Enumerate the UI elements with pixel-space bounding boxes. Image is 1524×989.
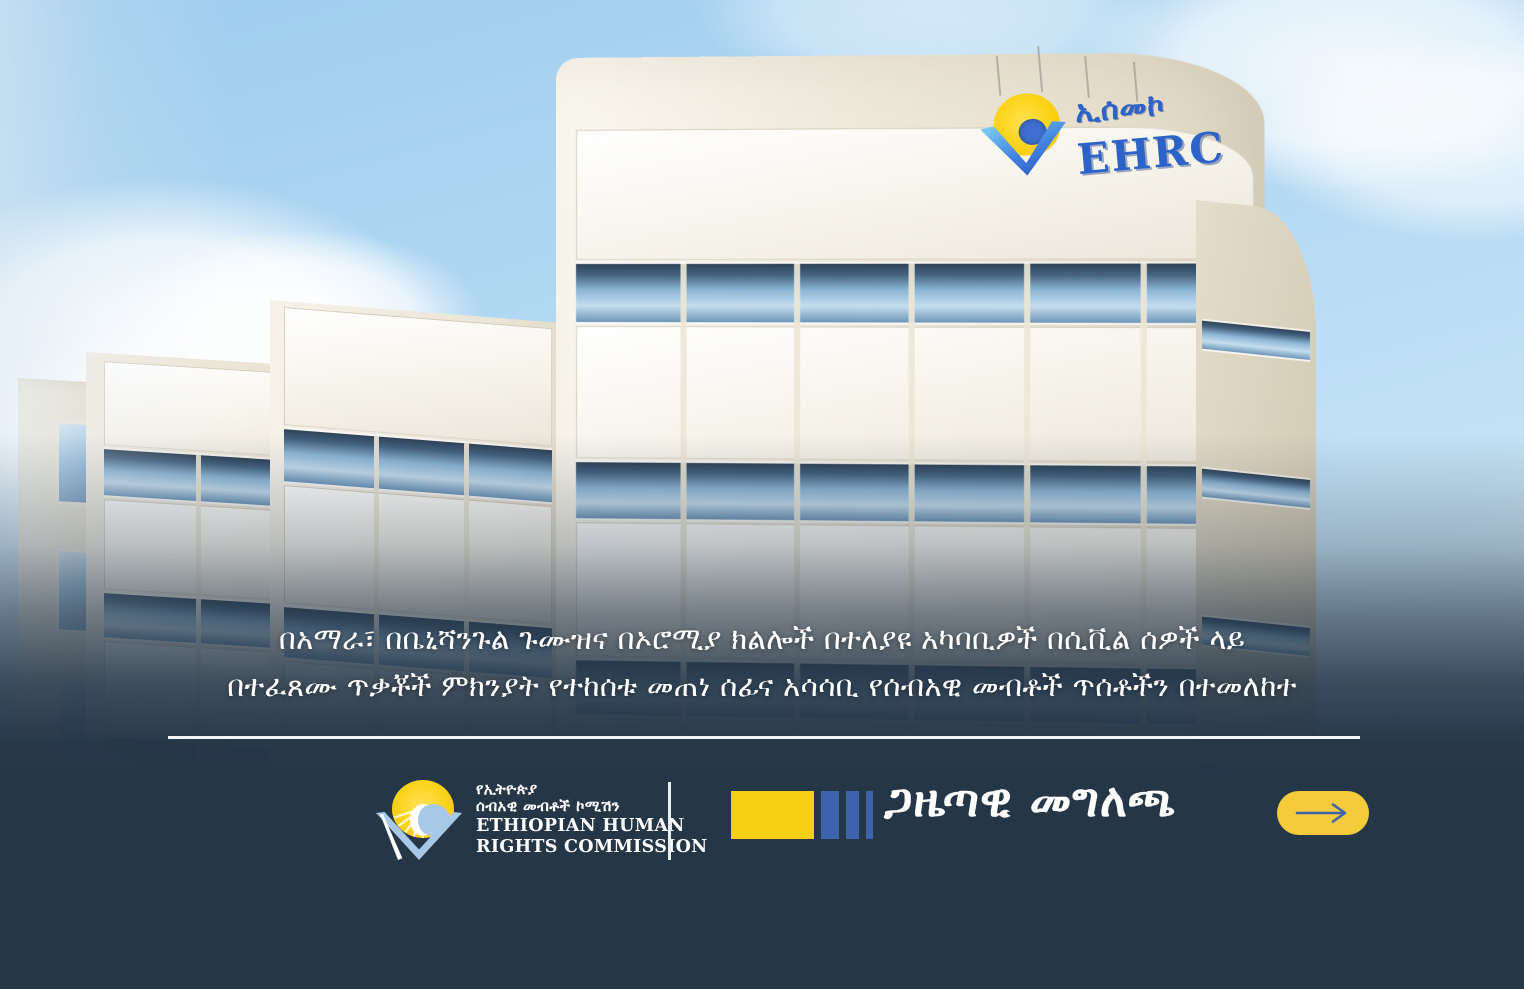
rooftop-sign-english: EHRC bbox=[1075, 122, 1227, 184]
logo-amharic-line-2: ሰብአዊ መብቶች ኮሚሽን bbox=[476, 798, 707, 816]
rooftop-ehrc-sign: ኢሰመኮ EHRC bbox=[969, 72, 1211, 241]
facade-panel bbox=[576, 326, 1254, 463]
logo-amharic-line-1: የኢትዮጵያ bbox=[476, 781, 707, 799]
crescent-shape bbox=[410, 804, 436, 836]
window-band bbox=[576, 462, 1254, 524]
vertical-separator bbox=[668, 782, 671, 860]
press-statement-poster: ኢሰመኮ EHRC በአማራ፣ በቤኒሻንጉል ጉሙዝና በኦሮሚያ ክልሎች … bbox=[0, 0, 1524, 989]
arrow-right-icon bbox=[1295, 802, 1351, 824]
headline-line-1: በአማራ፣ በቤኒሻንጉል ጉሙዝና በኦሮሚያ ክልሎች በተለያዩ አካባቢ… bbox=[80, 616, 1444, 663]
headline-line-2: በተፈጸሙ ጥቃቾች ምክንያት የተከሰቱ መጠነ ሰፊና አሳሳቢ የሰብአ… bbox=[80, 663, 1444, 710]
facade-panel bbox=[284, 485, 552, 624]
bar-gap bbox=[839, 791, 846, 839]
facade-panel bbox=[284, 307, 552, 446]
bar-blue-medium bbox=[846, 791, 859, 839]
logo-english-line-1: ETHIOPIAN HUMAN bbox=[476, 816, 707, 837]
window-band bbox=[576, 263, 1254, 323]
bar-blue-narrow bbox=[866, 791, 873, 839]
ehrc-emblem-icon bbox=[977, 90, 1070, 179]
headline: በአማራ፣ በቤኒሻንጉል ጉሙዝና በኦሮሚያ ክልሎች በተለያዩ አካባቢ… bbox=[0, 616, 1524, 710]
arrow-right-button[interactable] bbox=[1277, 791, 1369, 835]
bar-yellow bbox=[731, 791, 814, 839]
bar-blue-wide bbox=[821, 791, 839, 839]
ehrc-logo-lockup: የኢትዮጵያ ሰብአዊ መብቶች ኮሚሽን ETHIOPIAN HUMAN RI… bbox=[376, 778, 707, 860]
rooftop-sign-amharic: ኢሰመኮ bbox=[1074, 87, 1167, 130]
building-right-facade bbox=[1196, 200, 1316, 989]
brand-bar-graphic bbox=[731, 791, 873, 839]
window-band bbox=[1202, 469, 1310, 508]
ehrc-logo-icon bbox=[376, 778, 462, 860]
horizontal-divider bbox=[168, 736, 1360, 739]
logo-english-line-2: RIGHTS COMMISSION bbox=[476, 837, 707, 858]
ehrc-logo-text: የኢትዮጵያ ሰብአዊ መብቶች ኮሚሽን ETHIOPIAN HUMAN RI… bbox=[476, 781, 707, 858]
bar-gap bbox=[814, 791, 821, 839]
bar-gap bbox=[859, 791, 866, 839]
press-statement-label: ጋዜጣዊ መግለጫ bbox=[884, 773, 1176, 829]
window-band bbox=[1202, 321, 1310, 360]
